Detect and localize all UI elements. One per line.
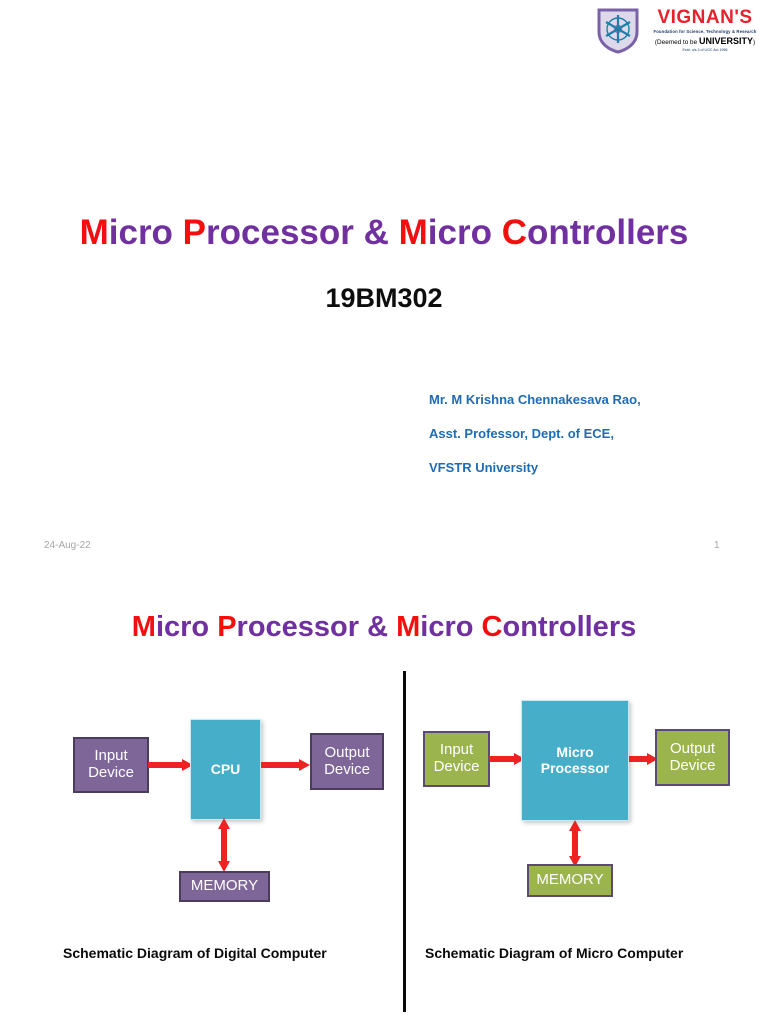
right-memory-label: MEMORY [536, 872, 603, 889]
title-seg-5: M [399, 213, 428, 252]
diagram-divider [403, 671, 406, 1012]
right-output-line1: Output [670, 741, 715, 758]
slide2-title-seg-2: P [217, 611, 236, 643]
title-seg-2: P [183, 213, 206, 252]
title-seg-4: & [364, 213, 399, 252]
title-seg-1: icro [109, 213, 183, 252]
left-output-device-box: Output Device [310, 733, 384, 790]
right-input-device-box: Input Device [423, 731, 490, 787]
vignans-shield-icon [596, 6, 640, 54]
left-arrow-cpu-to-output [261, 758, 310, 772]
footer-date: 24-Aug-22 [44, 540, 91, 551]
right-output-line2: Device [670, 758, 716, 775]
author-name: Mr. M Krishna Chennakesava Rao, [429, 383, 641, 417]
title-seg-3: rocessor [206, 213, 364, 252]
left-input-device-box: Input Device [73, 737, 149, 793]
left-memory-label: MEMORY [191, 878, 258, 895]
logo-deemed-suffix: ) [753, 39, 755, 46]
right-arrow-input-to-processor [489, 752, 525, 766]
title-seg-7: C [502, 213, 527, 252]
title-seg-0: M [80, 213, 109, 252]
author-university: VFSTR University [429, 451, 641, 485]
right-diagram-caption: Schematic Diagram of Micro Computer [425, 945, 683, 961]
left-output-line1: Output [324, 745, 369, 762]
left-memory-box: MEMORY [179, 871, 270, 902]
right-memory-box: MEMORY [527, 864, 613, 897]
author-designation: Asst. Professor, Dept. of ECE, [429, 417, 641, 451]
right-input-line2: Device [434, 759, 480, 776]
left-input-line2: Device [88, 765, 134, 782]
vignans-logo: VIGNAN'S Foundation for Science, Technol… [596, 6, 764, 62]
slide2-title-seg-1: icro [156, 611, 217, 643]
slide2-title: Micro Processor & Micro Controllers [0, 611, 768, 644]
logo-name: VIGNAN'S [646, 8, 764, 27]
course-code: 19BM302 [0, 283, 768, 314]
left-arrow-input-to-cpu [148, 758, 193, 772]
left-arrow-cpu-memory [217, 818, 231, 872]
logo-deemed-line: (Deemed to be UNIVERSITY) [646, 37, 764, 46]
slide2-title-seg-5: M [396, 611, 420, 643]
slide2-title-seg-6: icro [420, 611, 481, 643]
logo-estd: Estd. u/s 3 of UGC Act 1956 [646, 49, 764, 53]
right-output-device-box: Output Device [655, 729, 730, 786]
slide2-title-seg-4: & [367, 611, 396, 643]
left-input-line1: Input [94, 748, 127, 765]
slide2-title-seg-8: ontrollers [502, 611, 636, 643]
title-seg-6: icro [428, 213, 502, 252]
left-cpu-label: CPU [211, 762, 241, 778]
left-output-line2: Device [324, 762, 370, 779]
right-processor-line1: Micro [556, 745, 593, 761]
right-microprocessor-box: Micro Processor [521, 700, 629, 821]
author-block: Mr. M Krishna Chennakesava Rao, Asst. Pr… [429, 383, 641, 485]
logo-deemed-prefix: (Deemed to be [655, 39, 699, 46]
page-title: Micro Processor & Micro Controllers [0, 213, 768, 253]
right-input-line1: Input [440, 742, 473, 759]
logo-tagline: Foundation for Science, Technology & Res… [646, 30, 764, 34]
right-processor-line2: Processor [541, 761, 609, 777]
left-cpu-box: CPU [190, 719, 261, 820]
slide2-title-seg-0: M [132, 611, 156, 643]
footer-page-number: 1 [714, 540, 720, 551]
slide2-title-seg-3: rocessor [237, 611, 368, 643]
slide2-title-seg-7: C [482, 611, 503, 643]
title-seg-8: ontrollers [527, 213, 688, 252]
right-arrow-processor-memory [568, 820, 582, 867]
logo-deemed-word: UNIVERSITY [699, 36, 753, 46]
right-arrow-processor-to-output [629, 752, 658, 766]
left-diagram-caption: Schematic Diagram of Digital Computer [63, 945, 327, 961]
